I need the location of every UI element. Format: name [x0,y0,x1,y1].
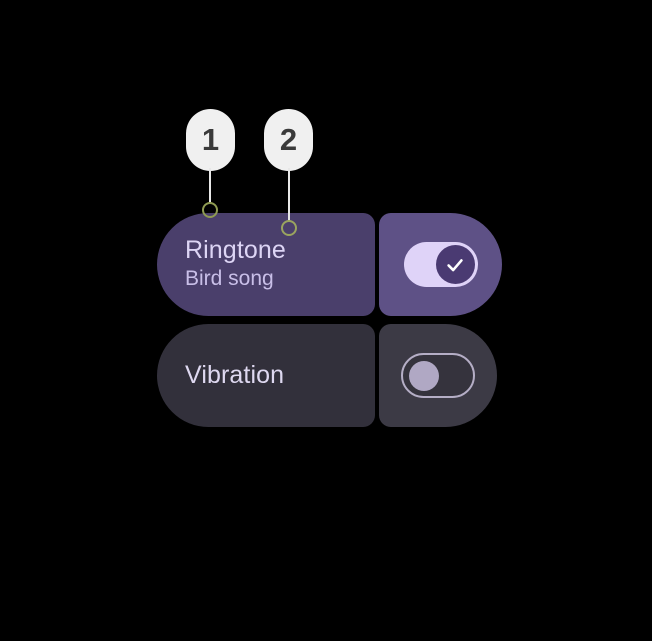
ringtone-title-text: Ringtone [185,237,375,264]
setting-row-vibration: Vibration [157,324,502,427]
screenshot-canvas: Ringtone Bird song Vibration [0,0,652,641]
vibration-toggle-card[interactable] [379,324,497,427]
ringtone-toggle-switch[interactable] [404,242,478,287]
toggle-thumb [436,245,475,284]
setting-row-ringtone: Ringtone Bird song [157,213,502,316]
vibration-row-card[interactable]: Vibration [157,324,375,427]
toggle-thumb [409,361,439,391]
ringtone-subtitle-text: Bird song [185,267,375,291]
check-icon [444,254,466,276]
ringtone-row-card[interactable]: Ringtone Bird song [157,213,375,316]
callout-badge-2[interactable]: 2 [264,109,313,171]
callout-badge-1[interactable]: 1 [186,109,235,171]
vibration-toggle-switch[interactable] [401,353,475,398]
callout-marker-2 [281,220,297,236]
settings-list: Ringtone Bird song Vibration [157,213,502,435]
callout-leader-line-1 [209,168,211,204]
vibration-title-text: Vibration [185,362,375,389]
callout-leader-line-2 [288,168,290,222]
callout-marker-1 [202,202,218,218]
ringtone-toggle-card[interactable] [379,213,502,316]
